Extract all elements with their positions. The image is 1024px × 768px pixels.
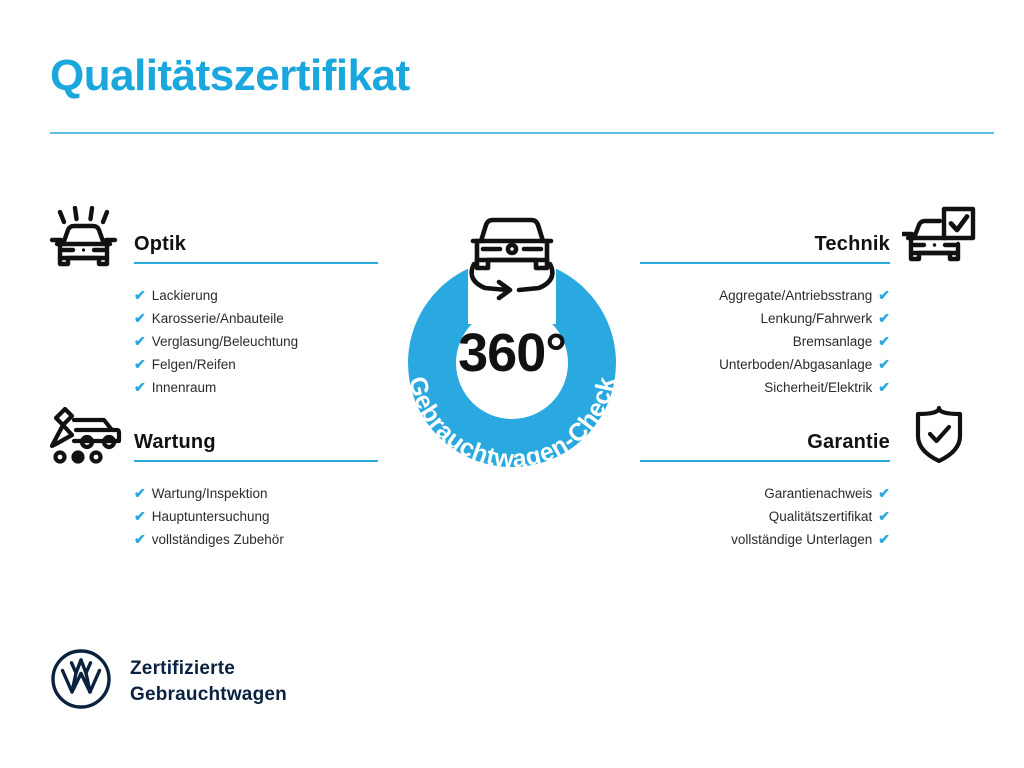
list-item: ✔Wartung/Inspektion bbox=[134, 482, 388, 505]
list-item: Unterboden/Abgasanlage✔ bbox=[676, 353, 890, 376]
check-icon: ✔ bbox=[878, 356, 890, 372]
section-garantie-list: Garantienachweis✔ Qualitätszertifikat✔ v… bbox=[636, 470, 976, 551]
vw-lockup-line2: Gebrauchtwagen bbox=[130, 682, 287, 708]
list-item: Lenkung/Fahrwerk✔ bbox=[676, 307, 890, 330]
list-item: ✔Karosserie/Anbauteile bbox=[134, 307, 388, 330]
section-wartung-header: Wartung bbox=[48, 402, 388, 470]
section-technik: Technik Aggregate/Antriebsstrang✔ Lenkun… bbox=[636, 204, 976, 399]
list-item-label: Verglasung/Beleuchtung bbox=[152, 334, 298, 349]
section-wartung: Wartung ✔Wartung/Inspektion ✔Hauptunters… bbox=[48, 402, 388, 551]
section-wartung-underline bbox=[134, 460, 378, 462]
section-wartung-title: Wartung bbox=[134, 431, 216, 454]
list-item-label: Lackierung bbox=[152, 288, 218, 303]
check-icon: ✔ bbox=[878, 287, 890, 303]
shield-check-icon bbox=[902, 404, 976, 471]
check-icon: ✔ bbox=[134, 379, 146, 395]
check-icon: ✔ bbox=[134, 287, 146, 303]
check-icon: ✔ bbox=[134, 310, 146, 326]
check-icon: ✔ bbox=[878, 508, 890, 524]
section-technik-underline bbox=[640, 262, 890, 264]
list-item: ✔Innenraum bbox=[134, 376, 388, 399]
volkswagen-logo bbox=[50, 648, 112, 715]
list-item-label: Garantienachweis bbox=[764, 486, 872, 501]
list-item: ✔Hauptuntersuchung bbox=[134, 505, 388, 528]
section-garantie-title: Garantie bbox=[807, 431, 890, 454]
list-item-label: Unterboden/Abgasanlage bbox=[719, 357, 872, 372]
section-optik-title: Optik bbox=[134, 233, 186, 256]
list-item: ✔Verglasung/Beleuchtung bbox=[134, 330, 388, 353]
list-item-label: Bremsanlage bbox=[793, 334, 873, 349]
section-garantie-header: Garantie bbox=[636, 402, 976, 470]
list-item-label: Karosserie/Anbauteile bbox=[152, 311, 284, 326]
page-title: Qualitätszertifikat bbox=[50, 52, 410, 100]
car-shine-icon bbox=[48, 206, 122, 281]
car-checkbox-icon bbox=[902, 206, 976, 277]
list-item-label: Hauptuntersuchung bbox=[152, 509, 270, 524]
check-icon: ✔ bbox=[134, 508, 146, 524]
section-wartung-list: ✔Wartung/Inspektion ✔Hauptuntersuchung ✔… bbox=[48, 470, 388, 551]
list-item-label: vollständiges Zubehör bbox=[152, 532, 284, 547]
pen-car-service-icon bbox=[48, 404, 122, 471]
list-item-label: Sicherheit/Elektrik bbox=[764, 380, 872, 395]
check-icon: ✔ bbox=[134, 356, 146, 372]
list-item-label: Wartung/Inspektion bbox=[152, 486, 268, 501]
section-optik: Optik ✔Lackierung ✔Karosserie/Anbauteile… bbox=[48, 204, 388, 399]
section-optik-underline bbox=[134, 262, 378, 264]
section-optik-list: ✔Lackierung ✔Karosserie/Anbauteile ✔Verg… bbox=[48, 272, 388, 399]
gebrauchtwagen-check-badge: Gebrauchtwagen-Check 360° bbox=[373, 198, 651, 490]
section-technik-header: Technik bbox=[636, 204, 976, 272]
list-item: ✔vollständiges Zubehör bbox=[134, 528, 388, 551]
section-optik-header: Optik bbox=[48, 204, 388, 272]
list-item: Garantienachweis✔ bbox=[676, 482, 890, 505]
list-item: vollständige Unterlagen✔ bbox=[676, 528, 890, 551]
list-item: Bremsanlage✔ bbox=[676, 330, 890, 353]
vw-lockup-text: Zertifizierte Gebrauchtwagen bbox=[130, 656, 287, 708]
list-item-label: Aggregate/Antriebsstrang bbox=[719, 288, 872, 303]
list-item-label: vollständige Unterlagen bbox=[731, 532, 872, 547]
check-icon: ✔ bbox=[134, 531, 146, 547]
check-icon: ✔ bbox=[134, 485, 146, 501]
list-item: Sicherheit/Elektrik✔ bbox=[676, 376, 890, 399]
section-technik-list: Aggregate/Antriebsstrang✔ Lenkung/Fahrwe… bbox=[636, 272, 976, 399]
vw-certified-lockup: Zertifizierte Gebrauchtwagen bbox=[50, 648, 287, 715]
check-icon: ✔ bbox=[878, 485, 890, 501]
list-item-label: Lenkung/Fahrwerk bbox=[760, 311, 872, 326]
check-icon: ✔ bbox=[134, 333, 146, 349]
check-icon: ✔ bbox=[878, 531, 890, 547]
section-technik-title: Technik bbox=[815, 233, 891, 256]
vw-lockup-line1: Zertifizierte bbox=[130, 656, 287, 682]
check-icon: ✔ bbox=[878, 379, 890, 395]
list-item-label: Innenraum bbox=[152, 380, 217, 395]
check-icon: ✔ bbox=[878, 333, 890, 349]
list-item: ✔Lackierung bbox=[134, 284, 388, 307]
section-garantie-underline bbox=[640, 460, 890, 462]
list-item: Aggregate/Antriebsstrang✔ bbox=[676, 284, 890, 307]
list-item: Qualitätszertifikat✔ bbox=[676, 505, 890, 528]
list-item: ✔Felgen/Reifen bbox=[134, 353, 388, 376]
check-icon: ✔ bbox=[878, 310, 890, 326]
section-garantie: Garantie Garantienachweis✔ Qualitätszert… bbox=[636, 402, 976, 551]
list-item-label: Qualitätszertifikat bbox=[769, 509, 873, 524]
title-divider bbox=[50, 132, 994, 134]
list-item-label: Felgen/Reifen bbox=[152, 357, 236, 372]
